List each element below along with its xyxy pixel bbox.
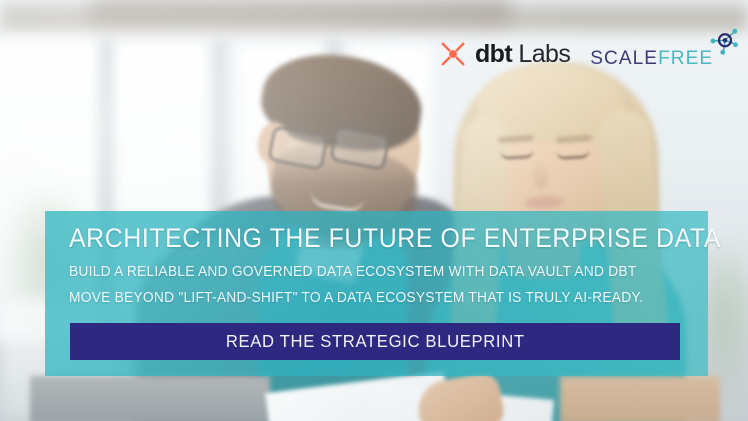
marketing-hero-banner: dbt Labs SCALEFREE [0,0,748,421]
dbt-labs-wordmark: dbt Labs [475,40,570,69]
subline-1: BUILD A RELIABLE AND GOVERNED DATA ECOSY… [69,263,635,280]
woman-nose [534,160,548,188]
labs-word: Labs [512,40,570,68]
subline-2: MOVE BEYOND "LIFT-AND-SHIFT" TO A DATA E… [69,289,635,306]
dbt-word: dbt [475,40,512,68]
scalefree-node-graph-icon [705,26,739,56]
woman-sleeve [560,376,720,421]
cta-label: READ THE STRATEGIC BLUEPRINT [226,331,525,352]
scalefree-logo[interactable]: SCALEFREE [590,38,713,70]
dbt-labs-logo[interactable]: dbt Labs [438,39,570,69]
scale-word: SCALE [590,48,658,69]
headline: ARCHITECTING THE FUTURE OF ENTERPRISE DA… [69,223,647,254]
man-sleeve [30,376,270,421]
teal-overlay-band: ARCHITECTING THE FUTURE OF ENTERPRISE DA… [45,211,708,376]
ceiling-beam-shadow [90,0,510,26]
logo-row: dbt Labs SCALEFREE [438,38,713,70]
scalefree-wordmark: SCALEFREE [590,48,713,70]
dbt-x-mark-icon [438,39,468,69]
read-the-strategic-blueprint-button[interactable]: READ THE STRATEGIC BLUEPRINT [70,323,680,360]
